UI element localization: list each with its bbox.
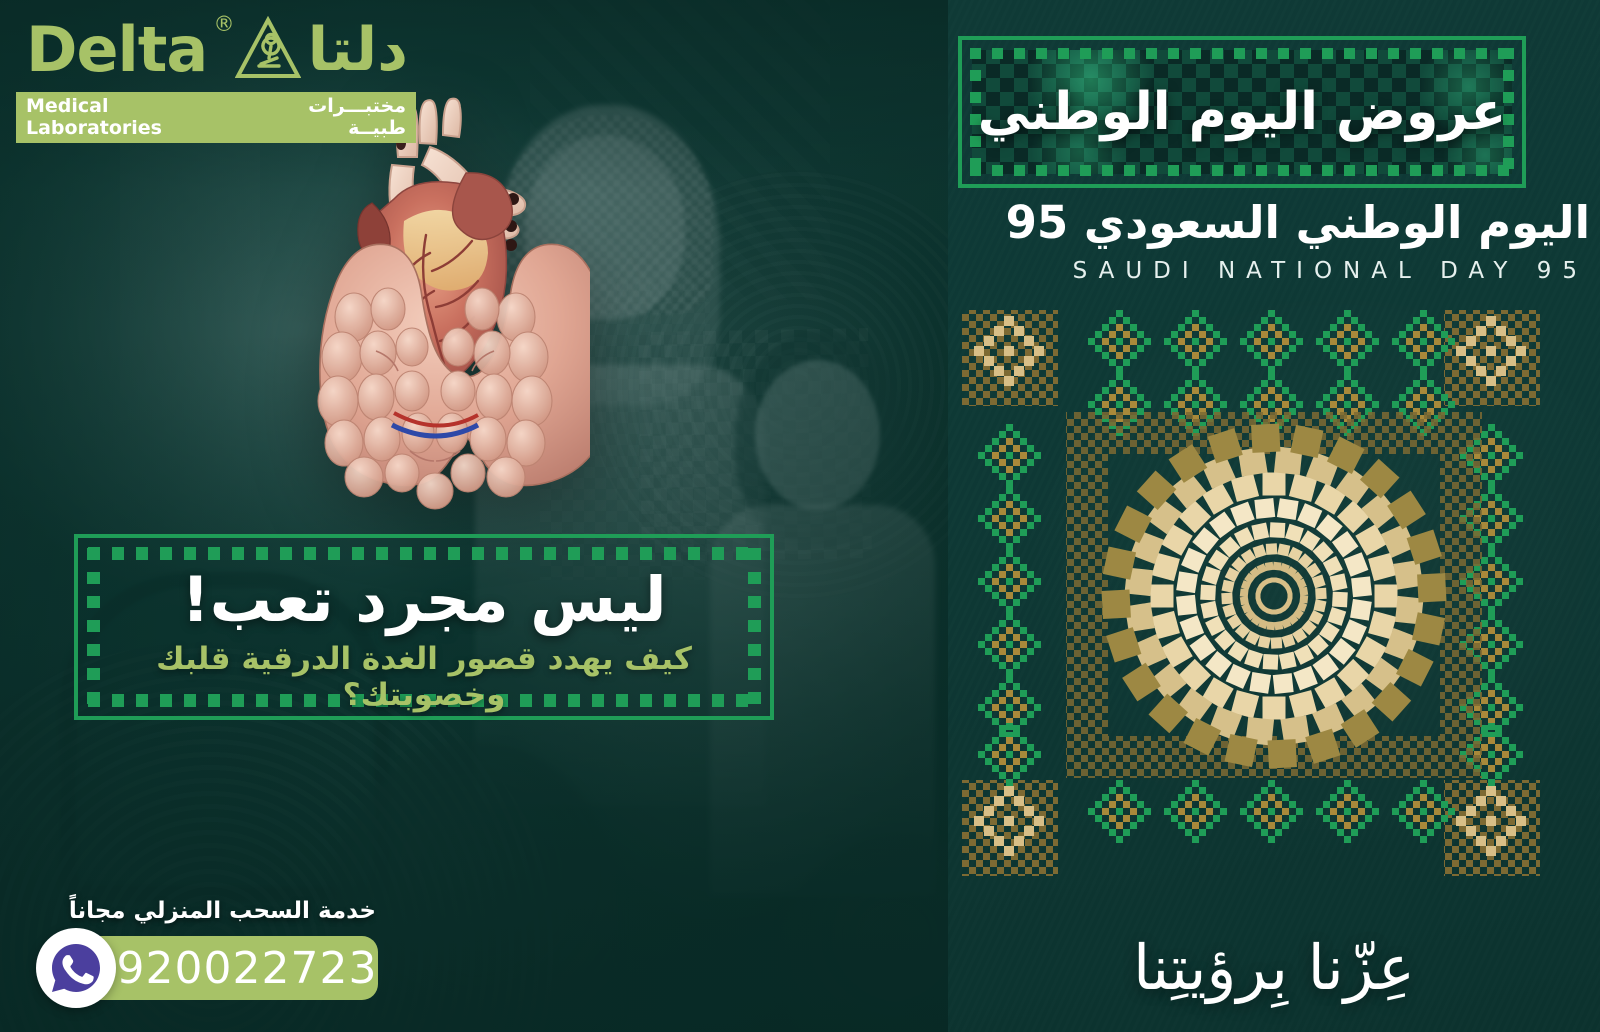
- offers-title: عروض اليوم الوطني: [962, 40, 1522, 184]
- offers-banner: عروض اليوم الوطني: [958, 36, 1526, 188]
- logo-tagline-arabic: مختبـــرات طبيــة: [247, 95, 406, 139]
- poster-canvas: Delta ® دلتا Medical Laboratories مختبــ…: [0, 0, 1600, 1032]
- logo-tagline-bar: Medical Laboratories مختبـــرات طبيــة: [16, 92, 416, 143]
- national-day-title-arabic: اليوم الوطني السعودي 95: [990, 196, 1590, 249]
- headline-subtitle: كيف يهدد قصور الغدة الدرقية قلبك وخصوبتك…: [78, 641, 770, 713]
- phone-number[interactable]: 920022723: [117, 943, 378, 994]
- registered-mark: ®: [213, 12, 234, 36]
- contact-block: خدمة السحب المنزلي مجاناً 920022723: [24, 898, 394, 1010]
- sadu-ornament-band: [948, 300, 1600, 890]
- logo-tagline-english: Medical Laboratories: [26, 95, 247, 139]
- headline-title: ليس مجرد تعب!: [78, 564, 770, 635]
- national-day-slogan: عِزّنا بِرؤيتِنا: [948, 931, 1600, 1004]
- logo-name-english: Delta: [26, 19, 207, 81]
- headline-notch-top: [88, 547, 760, 560]
- headline-banner: ليس مجرد تعب! كيف يهدد قصور الغدة الدرقي…: [74, 534, 774, 720]
- brand-logo: Delta ® دلتا Medical Laboratories مختبــ…: [16, 14, 416, 143]
- phone-pill[interactable]: 920022723: [74, 936, 378, 1000]
- whatsapp-icon[interactable]: [36, 928, 116, 1008]
- home-sampling-label: خدمة السحب المنزلي مجاناً: [69, 898, 376, 924]
- national-day-title-english: SAUDI NATIONAL DAY 95: [988, 258, 1588, 284]
- national-day-panel: عروض اليوم الوطني اليوم الوطني السعودي 9…: [948, 0, 1600, 1032]
- thyroid-gland-and-heart-illustration: [280, 95, 590, 545]
- microscope-triangle-icon: ®: [211, 14, 303, 86]
- logo-name-arabic: دلتا: [308, 20, 408, 80]
